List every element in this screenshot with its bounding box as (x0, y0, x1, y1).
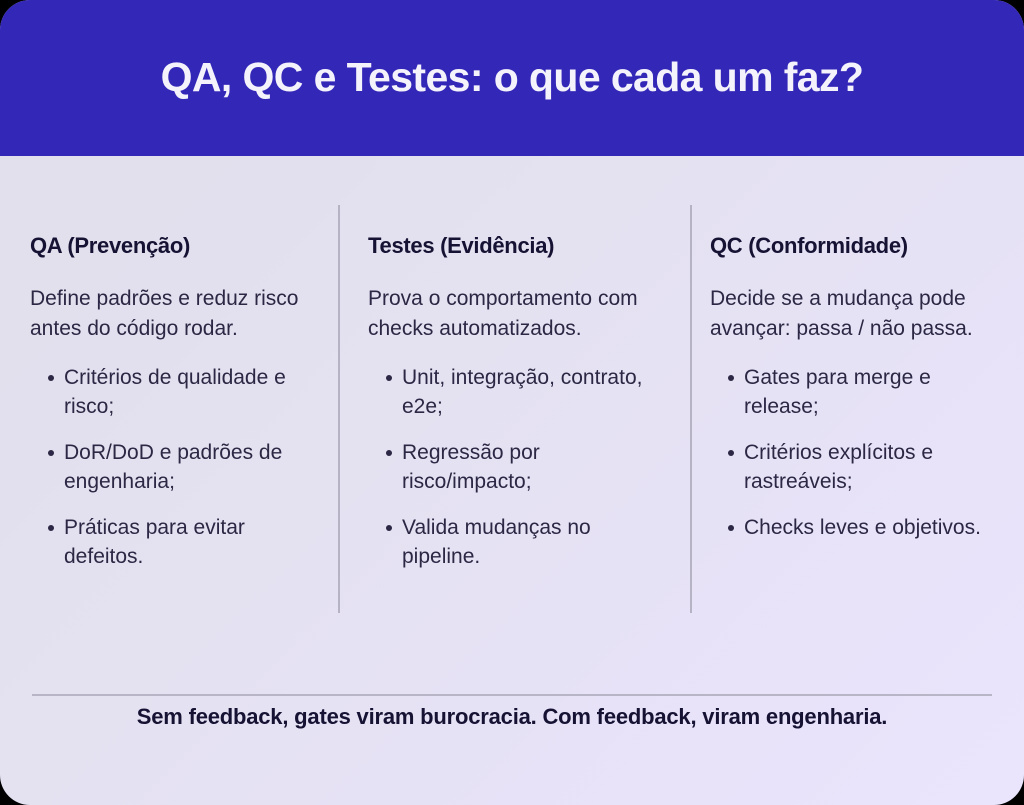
infographic-card: QA, QC e Testes: o que cada um faz? QA (… (0, 0, 1024, 805)
column-qa-description: Define padrões e reduz risco antes do có… (30, 284, 308, 344)
header-band: QA, QC e Testes: o que cada um faz? (0, 0, 1024, 156)
list-item: Práticas para evitar defeitos. (48, 514, 308, 572)
list-item: DoR/DoD e padrões de engenharia; (48, 439, 308, 497)
page-title: QA, QC e Testes: o que cada um faz? (121, 55, 904, 100)
column-testes-description: Prova o comportamento com checks automat… (368, 284, 656, 344)
list-item: Checks leves e objetivos. (728, 514, 1000, 543)
column-qa-heading: QA (Prevenção) (30, 233, 308, 258)
footer-divider (32, 694, 992, 696)
column-testes-list: Unit, integração, contrato, e2e; Regress… (368, 364, 656, 572)
column-qc-description: Decide se a mudança pode avançar: passa … (710, 284, 1000, 344)
list-item: Unit, integração, contrato, e2e; (386, 364, 656, 422)
column-qc-heading: QC (Conformidade) (710, 233, 1000, 258)
column-qc-list: Gates para merge e release; Critérios ex… (710, 364, 1000, 543)
list-item: Critérios de qualidade e risco; (48, 364, 308, 422)
column-qc: QC (Conformidade) Decide se a mudança po… (692, 205, 1024, 613)
list-item: Critérios explícitos e rastreáveis; (728, 439, 1000, 497)
list-item: Gates para merge e release; (728, 364, 1000, 422)
column-qa-list: Critérios de qualidade e risco; DoR/DoD … (30, 364, 308, 572)
column-testes-heading: Testes (Evidência) (368, 233, 656, 258)
columns-container: QA (Prevenção) Define padrões e reduz ri… (0, 205, 1024, 613)
column-qa: QA (Prevenção) Define padrões e reduz ri… (0, 205, 338, 613)
list-item: Valida mudanças no pipeline. (386, 514, 656, 572)
list-item: Regressão por risco/impacto; (386, 439, 656, 497)
footer-tagline: Sem feedback, gates viram burocracia. Co… (0, 704, 1024, 730)
column-testes: Testes (Evidência) Prova o comportamento… (340, 205, 690, 613)
